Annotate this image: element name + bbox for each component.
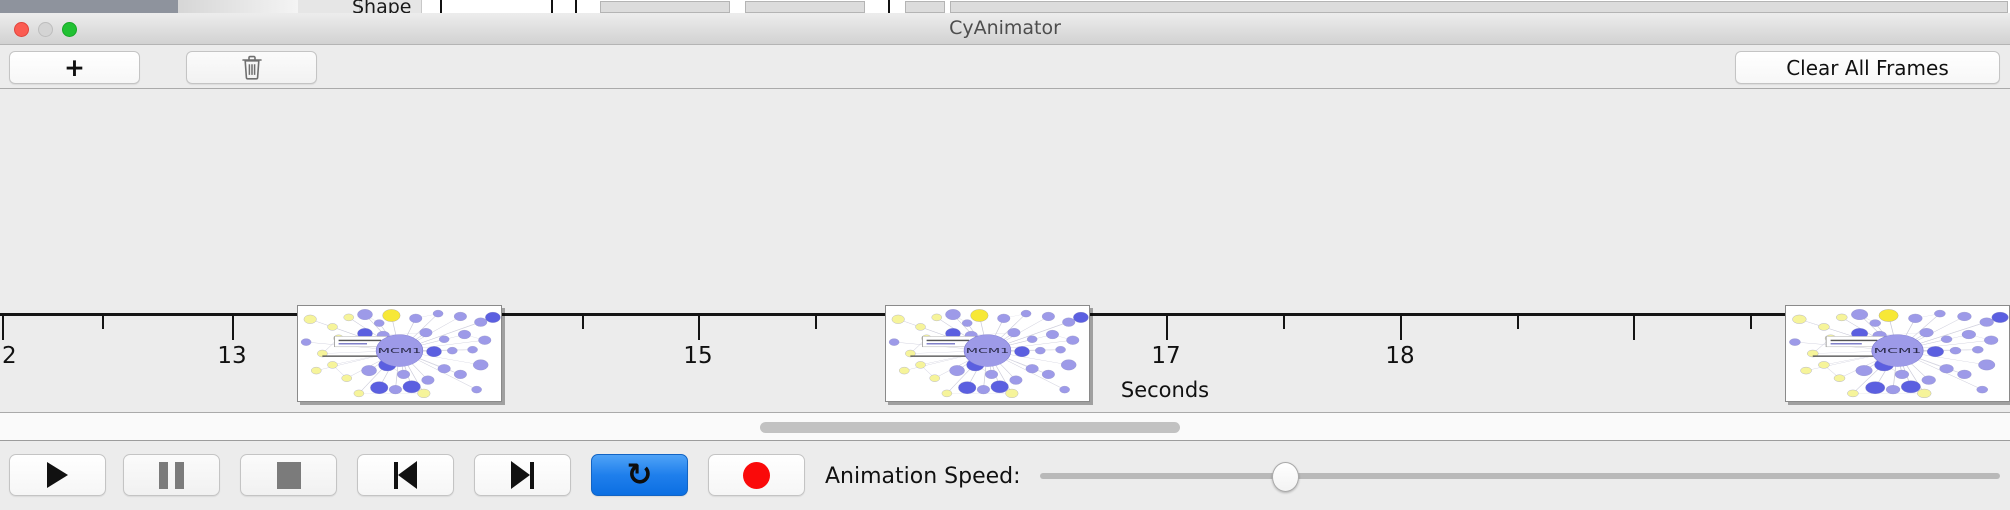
axis-tick-label: 12 [0, 343, 17, 369]
skip-forward-icon [511, 461, 534, 489]
axis-tick-minor [582, 316, 584, 329]
horizontal-scrollbar[interactable] [0, 413, 2010, 441]
background-field [905, 1, 945, 13]
title-bar[interactable]: CyAnimator [0, 13, 2010, 45]
loop-button[interactable]: ↻ [591, 454, 688, 496]
record-button[interactable] [708, 454, 805, 496]
skip-to-start-button[interactable] [357, 454, 454, 496]
record-icon [743, 462, 770, 489]
background-tab [298, 0, 360, 13]
delete-frame-button[interactable] [186, 51, 317, 84]
background-tick [575, 0, 577, 13]
axis-tick-label: 13 [217, 343, 246, 369]
axis-tick-label: 15 [683, 343, 712, 369]
axis-tick-minor [1283, 316, 1285, 329]
axis-tick-major [1400, 316, 1402, 340]
axis-tick-label: 17 [1151, 343, 1180, 369]
skip-backward-icon [394, 461, 417, 489]
background-sidebar [0, 0, 178, 13]
play-button[interactable] [9, 454, 106, 496]
background-field [600, 1, 730, 13]
plus-icon: + [64, 55, 85, 80]
axis-tick-minor [1517, 316, 1519, 329]
clear-all-frames-button[interactable]: Clear All Frames [1735, 51, 2000, 84]
keyframe-3[interactable]: MCM1 [1785, 305, 2010, 402]
keyframe-1[interactable]: MCM1 [297, 305, 502, 402]
svg-text:MCM1: MCM1 [966, 347, 1009, 355]
stop-button[interactable] [240, 454, 337, 496]
background-window-strip: Shape [0, 0, 2010, 13]
axis-tick-major [698, 316, 700, 340]
scrollbar-thumb[interactable] [760, 422, 1180, 433]
pause-icon [159, 462, 184, 489]
keyframe-thumbnail-graph: MCM1 [1786, 306, 2009, 401]
toolbar: + Clear All Frames [0, 45, 2010, 88]
axis-tick-major [232, 316, 234, 340]
svg-text:MCM1: MCM1 [378, 347, 421, 355]
axis-tick-major [1633, 316, 1635, 340]
add-frame-button[interactable]: + [9, 51, 140, 84]
background-field [745, 1, 865, 13]
background-toolbar-gradient [178, 0, 298, 13]
background-tick [440, 0, 442, 13]
page-title: CyAnimator [0, 13, 2010, 45]
trash-icon [241, 55, 263, 80]
axis-tick-label: 18 [1385, 343, 1414, 369]
pause-button[interactable] [123, 454, 220, 496]
axis-tick-minor [1750, 316, 1752, 329]
loop-icon: ↻ [627, 460, 653, 491]
svg-text:MCM1: MCM1 [1874, 347, 1922, 355]
keyframe-2[interactable]: MCM1 [885, 305, 1090, 402]
player-bar: ↻ Animation Speed: [0, 442, 2010, 510]
timeline-panel[interactable]: Seconds 12131415161718MCM1MCM1MCM1 [0, 88, 2010, 413]
play-icon [47, 462, 68, 488]
skip-to-end-button[interactable] [474, 454, 571, 496]
stop-icon [277, 462, 301, 489]
axis-tick-major [2, 316, 4, 340]
animation-speed-label: Animation Speed: [825, 464, 1021, 489]
axis-caption: Seconds [1121, 378, 1209, 402]
background-tick [888, 0, 890, 13]
keyframe-thumbnail-graph: MCM1 [886, 306, 1089, 401]
background-field [950, 1, 2008, 13]
clear-all-frames-label: Clear All Frames [1786, 56, 1949, 80]
background-window-label: Shape [352, 0, 412, 13]
axis-tick-minor [815, 316, 817, 329]
keyframe-thumbnail-graph: MCM1 [298, 306, 501, 401]
background-tick [551, 0, 553, 13]
axis-tick-minor [102, 316, 104, 329]
animation-speed-thumb[interactable] [1272, 462, 1299, 492]
axis-tick-major [1166, 316, 1168, 340]
animation-speed-slider[interactable] [1040, 473, 2000, 479]
timeline-canvas[interactable]: Seconds 12131415161718MCM1MCM1MCM1 [0, 90, 2010, 412]
